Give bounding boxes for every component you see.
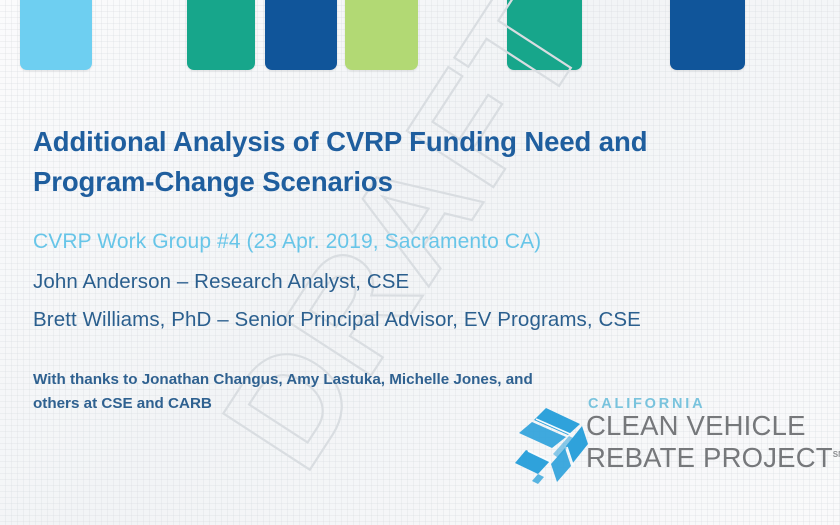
presenter-line-2: Brett Williams, PhD – Senior Principal A… bbox=[33, 308, 641, 332]
acknowledgement-text: With thanks to Jonathan Changus, Amy Las… bbox=[33, 368, 553, 416]
page-title: Additional Analysis of CVRP Funding Need… bbox=[33, 122, 703, 202]
logo-line-rebate-project-wrap: REBATE PROJECTSM bbox=[586, 441, 831, 473]
event-subtitle: CVRP Work Group #4 (23 Apr. 2019, Sacram… bbox=[33, 230, 541, 254]
logo-trademark-sm: SM bbox=[833, 450, 840, 459]
presenter-line-1: John Anderson – Research Analyst, CSE bbox=[33, 270, 409, 294]
logo-line-clean-vehicle: CLEAN VEHICLE bbox=[586, 412, 831, 441]
cvrp-logo: CALIFORNIA CLEAN VEHICLE REBATE PROJECTS… bbox=[508, 396, 828, 491]
cvrp-logo-wordmark: CALIFORNIA CLEAN VEHICLE REBATE PROJECTS… bbox=[586, 396, 831, 472]
slide-content: Additional Analysis of CVRP Funding Need… bbox=[0, 0, 840, 525]
logo-line-rebate-project: REBATE PROJECT bbox=[586, 442, 833, 473]
slide-canvas: DRAFT Additional Analysis of CVRP Fundin… bbox=[0, 0, 840, 525]
